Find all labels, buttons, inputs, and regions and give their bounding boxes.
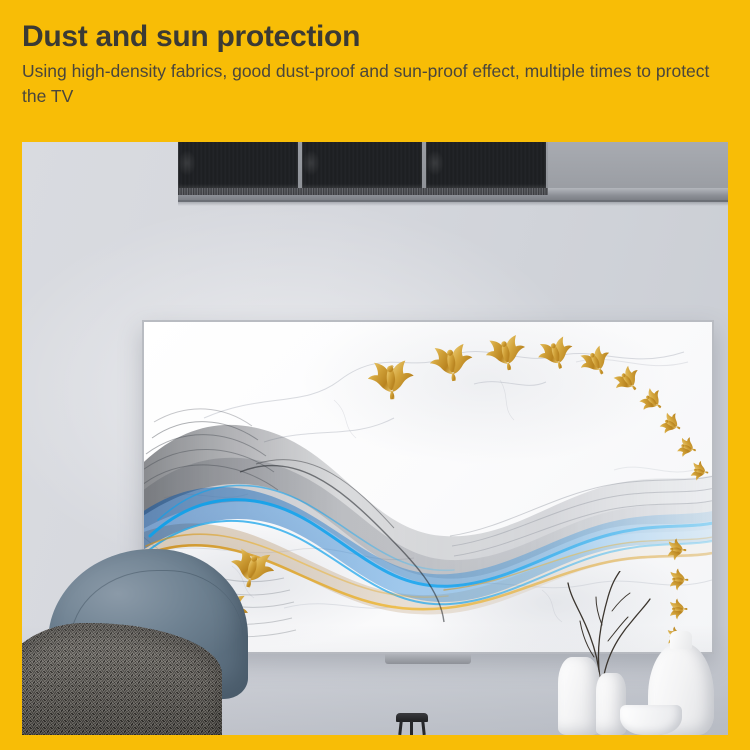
small-stool	[396, 713, 428, 735]
subtitle-text: Using high-density fabrics, good dust-pr…	[22, 59, 712, 109]
sofa-cushion	[22, 535, 252, 735]
stool-leg	[398, 721, 402, 735]
cabinet-shadow	[178, 200, 728, 206]
cabinet-lip-grain	[178, 188, 548, 195]
golden-bird-icon	[669, 568, 689, 591]
golden-bird-icon	[667, 538, 687, 561]
wall-cabinet	[178, 142, 728, 204]
vase-slim	[596, 673, 626, 735]
cabinet-door	[302, 142, 422, 188]
cabinet-door	[426, 142, 546, 188]
ceramic-bowl	[620, 705, 682, 735]
vase-tall	[558, 657, 600, 735]
cabinet-side-panel	[548, 142, 728, 190]
stool-leg	[410, 721, 413, 735]
cabinet-doors	[178, 142, 546, 188]
stool-leg	[421, 721, 425, 735]
product-feature-banner: Dust and sun protection Using high-densi…	[0, 0, 750, 750]
product-photo	[22, 142, 728, 735]
cabinet-door	[178, 142, 298, 188]
golden-bird-icon	[428, 341, 476, 385]
copy-block: Dust and sun protection Using high-densi…	[22, 20, 728, 109]
ceramic-vase-group	[544, 615, 724, 735]
golden-bird-icon	[367, 358, 416, 401]
page-title: Dust and sun protection	[22, 20, 728, 53]
